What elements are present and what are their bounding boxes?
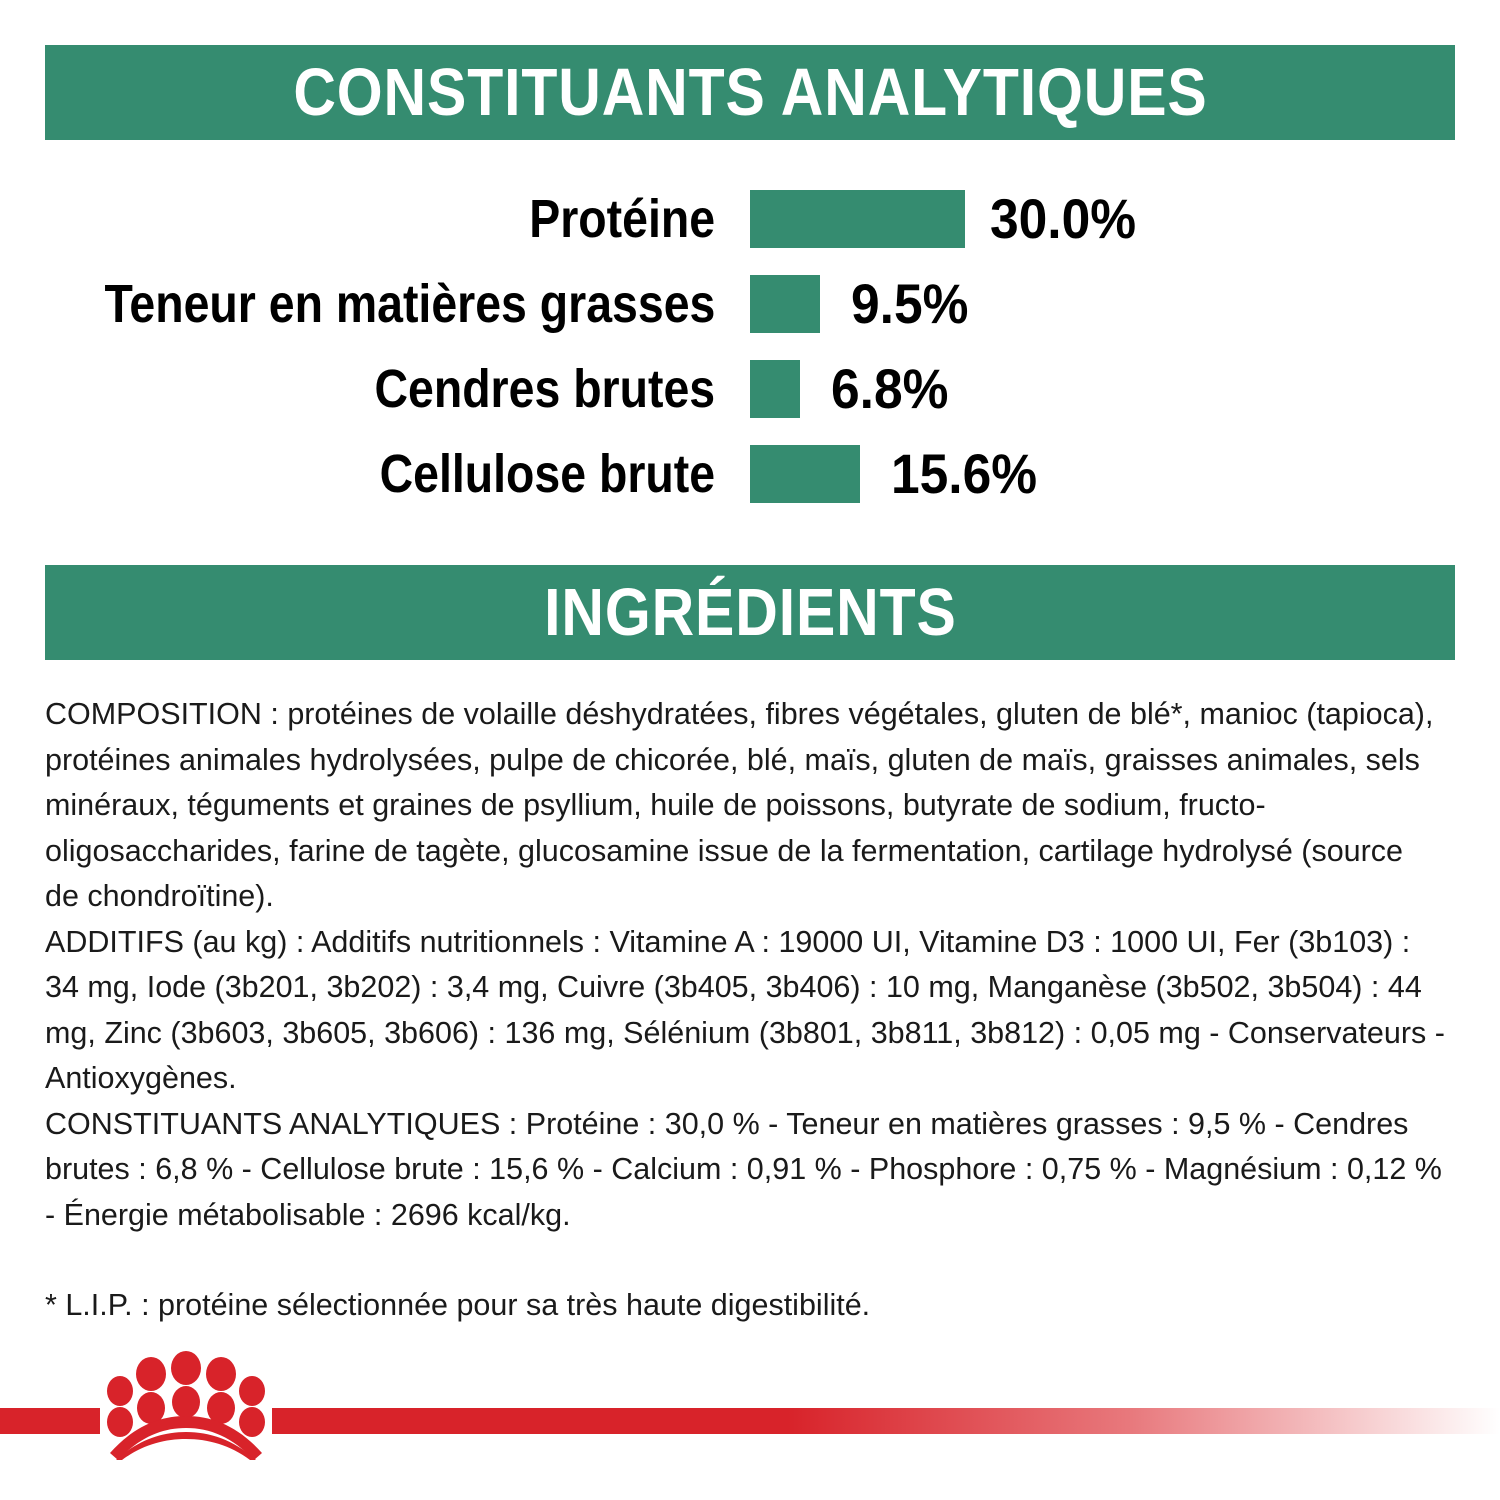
royal-canin-crown-icon (100, 1350, 272, 1460)
constituent-bar (750, 190, 965, 248)
constituent-value: 6.8% (831, 361, 948, 417)
ingredients-title: INGRÉDIENTS (544, 579, 957, 646)
footer-rule-left (0, 1408, 100, 1434)
analytical-constituents-chart: Protéine 30.0% Teneur en matières grasse… (0, 176, 1500, 516)
footer (0, 1330, 1500, 1500)
constituent-label: Teneur en matières grasses (104, 277, 715, 331)
constituent-row-proteine: Protéine 30.0% (0, 176, 1500, 261)
constituent-row-cendres-brutes: Cendres brutes 6.8% (0, 346, 1500, 431)
composition-paragraph: COMPOSITION : protéines de volaille désh… (45, 692, 1445, 920)
constituent-bar (750, 275, 820, 333)
ingredients-body: COMPOSITION : protéines de volaille désh… (45, 692, 1445, 1329)
lip-footnote: * L.I.P. : protéine sélectionnée pour sa… (45, 1283, 1445, 1329)
analytical-constituents-title: CONSTITUANTS ANALYTIQUES (293, 59, 1207, 126)
constituent-value: 9.5% (851, 276, 968, 332)
constituent-bar (750, 360, 800, 418)
ingredients-banner: INGRÉDIENTS (45, 565, 1455, 660)
constituent-label: Cellulose brute (380, 447, 715, 501)
constituent-label: Cendres brutes (374, 362, 715, 416)
additives-paragraph: ADDITIFS (au kg) : Additifs nutritionnel… (45, 920, 1445, 1102)
constituent-value: 30.0% (990, 191, 1136, 247)
analytical-constituents-paragraph: CONSTITUANTS ANALYTIQUES : Protéine : 30… (45, 1102, 1445, 1239)
constituent-bar (750, 445, 860, 503)
footer-rule-right (272, 1408, 1500, 1434)
analytical-constituents-banner: CONSTITUANTS ANALYTIQUES (45, 45, 1455, 140)
constituent-label: Protéine (529, 192, 715, 246)
constituent-value: 15.6% (891, 446, 1037, 502)
constituent-row-matieres-grasses: Teneur en matières grasses 9.5% (0, 261, 1500, 346)
constituent-row-cellulose-brute: Cellulose brute 15.6% (0, 431, 1500, 516)
